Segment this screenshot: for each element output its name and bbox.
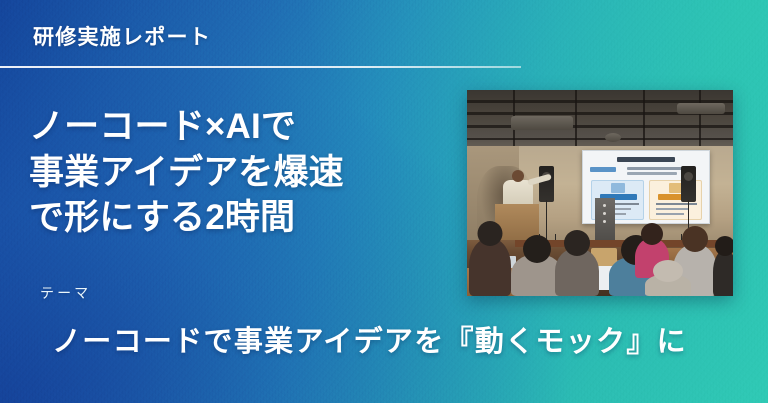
theme-label: テーマ (40, 283, 91, 303)
photo-audience-7 (713, 250, 733, 296)
photo-slide-tag-bar (590, 167, 616, 172)
headline-line-1: ノーコード×AIで (29, 104, 459, 150)
photo-audience-8 (645, 274, 691, 296)
eyebrow-label: 研修実施レポート (33, 21, 211, 51)
photo-presenter-head (512, 170, 524, 182)
photo-audience-3 (555, 248, 599, 296)
photo-speaker-left (539, 166, 554, 202)
seminar-photo (467, 90, 733, 296)
theme-statement: ノーコードで事業アイデアを『動くモック』に (52, 318, 768, 360)
headline-line-3: で形にする2時間 (29, 195, 459, 241)
photo-speaker-right (681, 166, 696, 202)
photo-slide-subtitle-bar-2 (627, 172, 677, 175)
header-divider-rule (0, 66, 521, 68)
photo-audience-1 (469, 238, 511, 296)
photo-slide-subtitle-bar (627, 167, 689, 170)
headline-line-2: 事業アイデアを爆速 (29, 150, 459, 196)
photo-ceiling (467, 90, 733, 152)
photo-slide-title-bar (617, 157, 675, 162)
report-slide: 研修実施レポート ノーコード×AIで 事業アイデアを爆速 で形にする2時間 テー… (0, 0, 768, 403)
page-title: ノーコード×AIで 事業アイデアを爆速 で形にする2時間 (29, 104, 459, 241)
